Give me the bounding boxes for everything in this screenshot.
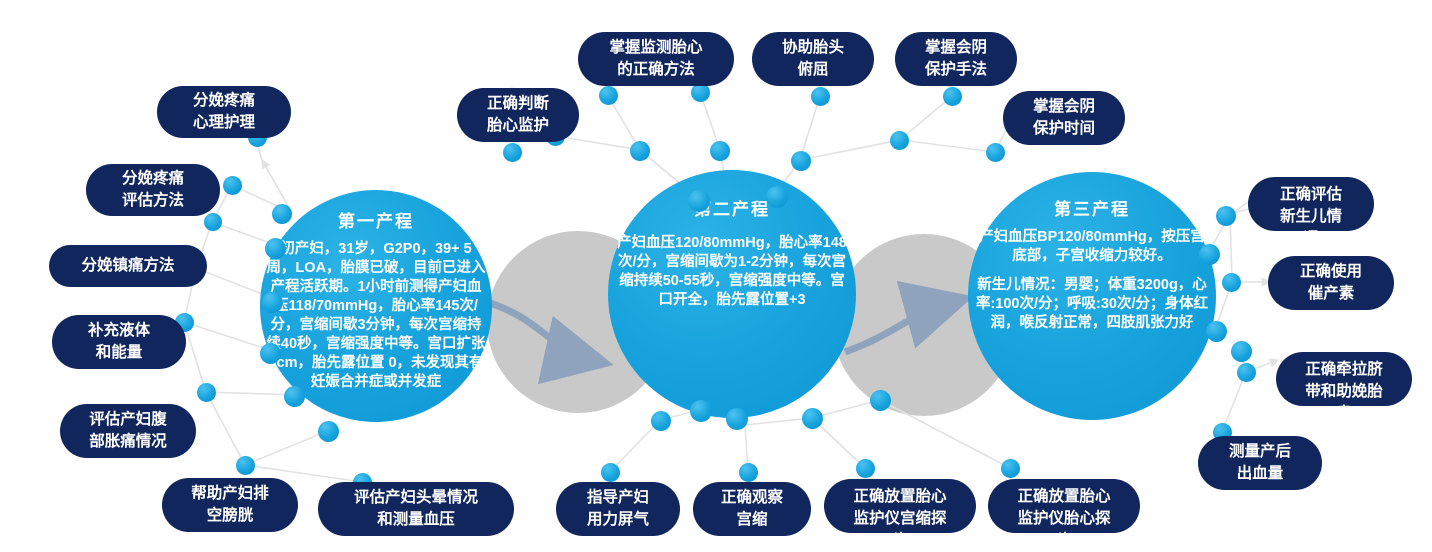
label-pill-zhidao-yongli-pingqi[interactable]: 指导产妇用力屏气 bbox=[556, 482, 680, 536]
label-pill-fangzhi-gongsuo-tantou[interactable]: 正确放置胎心监护仪宫缩探头 bbox=[824, 479, 976, 533]
label-pill-pinggu-fubu-zhangtong[interactable]: 评估产妇腹部胀痛情况 bbox=[60, 404, 196, 458]
label-pill-zhangwo-huiyin-shoufa[interactable]: 掌握会阴保护手法 bbox=[895, 32, 1017, 86]
label-pill-fenmian-tengtong-pinggu[interactable]: 分娩疼痛评估方法 bbox=[86, 164, 220, 216]
node-dot[interactable] bbox=[943, 87, 962, 106]
stage-body: 初产妇，31岁，G2P0，39+ 5周，LOA，胎膜已破，目前已进入产程活跃期。… bbox=[260, 240, 492, 392]
node-dot[interactable] bbox=[284, 386, 305, 407]
label-pill-fenmian-zhentong-fangfa[interactable]: 分娩镇痛方法 bbox=[49, 245, 207, 287]
label-pill-xiezhu-taitou-fuqu[interactable]: 协助胎头俯屈 bbox=[752, 32, 874, 86]
label-pill-pinggu-xinshenger[interactable]: 正确评估新生儿情况 bbox=[1248, 177, 1374, 231]
node-dot[interactable] bbox=[1222, 273, 1241, 292]
node-dot[interactable] bbox=[272, 204, 292, 224]
label-pill-celiang-chanhou-chuxueliang[interactable]: 测量产后出血量 bbox=[1198, 436, 1322, 490]
stage-body-secondary: 新生儿情况：男婴；体重3200g，心率:100次/分；呼吸:30次/分；身体红润… bbox=[968, 276, 1216, 333]
node-dot[interactable] bbox=[856, 459, 875, 478]
stage-body: 产妇血压BP120/80mmHg，按压宫底部，子宫收缩力较好。 bbox=[968, 228, 1216, 266]
node-dot[interactable] bbox=[601, 463, 620, 482]
node-dot[interactable] bbox=[802, 408, 823, 429]
label-pill-buchong-yeti[interactable]: 补充液体和能量 bbox=[52, 315, 186, 369]
label-pill-fenmian-tengtong-xinli-huli[interactable]: 分娩疼痛心理护理 bbox=[157, 86, 291, 138]
label-pill-zhengque-panduan-taixin[interactable]: 正确判断胎心监护 bbox=[457, 88, 579, 142]
stage-title: 第三产程 bbox=[1054, 200, 1130, 220]
node-dot[interactable] bbox=[766, 186, 788, 208]
diagram-canvas: 第一产程 初产妇，31岁，G2P0，39+ 5周，LOA，胎膜已破，目前已进入产… bbox=[0, 0, 1432, 552]
node-dot[interactable] bbox=[236, 456, 255, 475]
node-dot[interactable] bbox=[197, 383, 216, 402]
node-dot[interactable] bbox=[1206, 321, 1227, 342]
node-dot[interactable] bbox=[1231, 341, 1252, 362]
stage-title: 第一产程 bbox=[338, 212, 414, 232]
node-dot[interactable] bbox=[870, 390, 891, 411]
node-dot[interactable] bbox=[986, 143, 1005, 162]
node-dot[interactable] bbox=[811, 87, 830, 106]
flow-arrow-1-to-2 bbox=[480, 300, 600, 362]
node-dot[interactable] bbox=[651, 411, 671, 431]
node-dot[interactable] bbox=[204, 213, 222, 231]
label-pill-fangzhi-taixin-tantou[interactable]: 正确放置胎心监护仪胎心探头 bbox=[988, 479, 1140, 533]
stage-circle-2[interactable]: 第二产程 产妇血压120/80mmHg，胎心率148次/分，宫缩间歇为1-2分钟… bbox=[608, 170, 856, 418]
node-dot[interactable] bbox=[503, 143, 522, 162]
label-pill-qianla-qidai-zhumian[interactable]: 正确牵拉脐带和助娩胎盘 bbox=[1276, 352, 1412, 406]
node-dot[interactable] bbox=[1216, 206, 1236, 226]
node-dot[interactable] bbox=[1001, 459, 1020, 478]
node-dot[interactable] bbox=[262, 292, 283, 313]
label-pill-zhengque-guancha-gongsuo[interactable]: 正确观察宫缩 bbox=[693, 482, 811, 536]
node-dot[interactable] bbox=[890, 131, 909, 150]
node-dot[interactable] bbox=[265, 238, 286, 259]
node-dot[interactable] bbox=[630, 141, 650, 161]
label-pill-bangzhu-paikong-pangguang[interactable]: 帮助产妇排空膀胱 bbox=[162, 478, 298, 532]
node-dot[interactable] bbox=[739, 463, 758, 482]
node-dot[interactable] bbox=[260, 343, 281, 364]
node-dot[interactable] bbox=[318, 421, 339, 442]
node-dot[interactable] bbox=[791, 151, 811, 171]
node-dot[interactable] bbox=[1199, 244, 1220, 265]
node-dot[interactable] bbox=[1237, 363, 1256, 382]
node-dot[interactable] bbox=[599, 86, 618, 105]
node-dot[interactable] bbox=[223, 176, 242, 195]
stage-body: 产妇血压120/80mmHg，胎心率148次/分，宫缩间歇为1-2分钟，每次宫缩… bbox=[608, 234, 856, 310]
label-pill-zhangwo-jiance-taixin[interactable]: 掌握监测胎心的正确方法 bbox=[578, 32, 734, 86]
label-pill-zhangwo-huiyin-shijian[interactable]: 掌握会阴保护时间 bbox=[1003, 91, 1125, 145]
node-dot[interactable] bbox=[726, 408, 748, 430]
node-dot[interactable] bbox=[710, 141, 730, 161]
label-pill-pinggu-touyun-xueya[interactable]: 评估产妇头晕情况和测量血压 bbox=[318, 482, 514, 536]
node-dot[interactable] bbox=[688, 190, 710, 212]
flow-arrow-2-to-3 bbox=[845, 300, 960, 352]
stage-circle-3[interactable]: 第三产程 产妇血压BP120/80mmHg，按压宫底部，子宫收缩力较好。 新生儿… bbox=[968, 172, 1216, 420]
label-pill-zhengque-shiyong-cuichansu[interactable]: 正确使用催产素 bbox=[1268, 256, 1394, 310]
node-dot[interactable] bbox=[690, 400, 712, 422]
